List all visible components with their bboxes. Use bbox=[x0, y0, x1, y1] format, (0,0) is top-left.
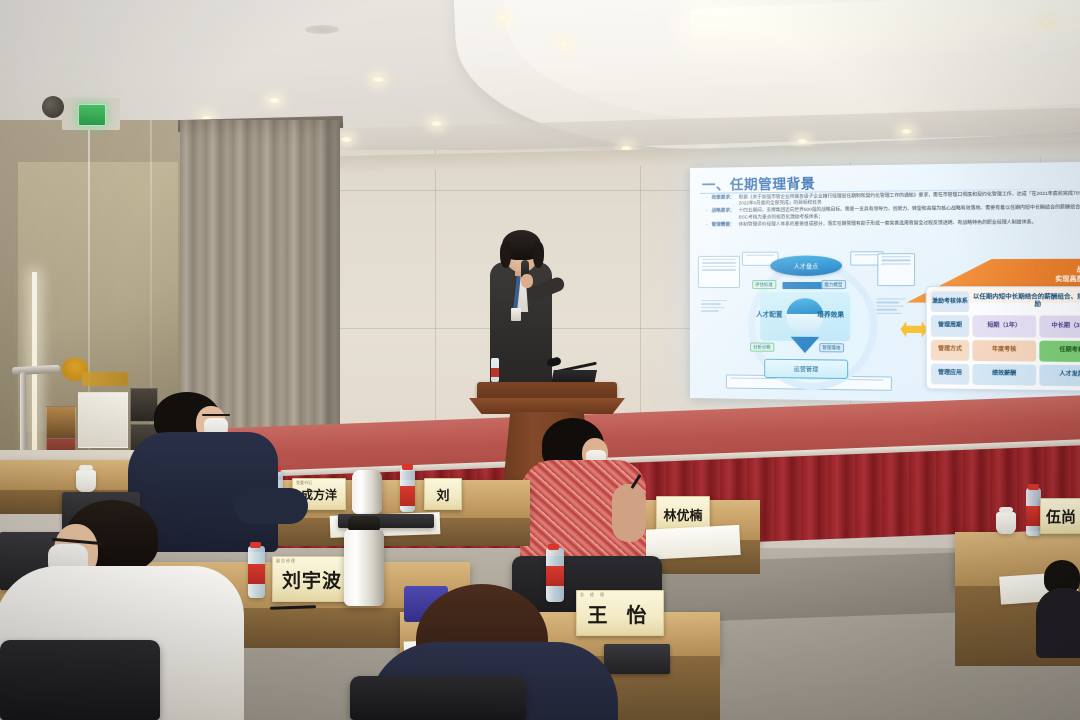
bottle-cap bbox=[1028, 484, 1039, 490]
speaker-hair-right bbox=[533, 242, 544, 268]
table-cell: 年度考核 bbox=[972, 340, 1036, 362]
exit-sign-icon bbox=[78, 104, 106, 126]
ceiling-speaker-icon bbox=[42, 96, 64, 118]
microphone-head-icon bbox=[546, 356, 562, 367]
diagram-tag: 能力模型 bbox=[821, 280, 845, 289]
diagram-left-node: 人才配置 bbox=[756, 308, 782, 318]
slide-title: 一、任期管理背景 bbox=[702, 172, 815, 194]
brand-wordmark bbox=[82, 372, 128, 386]
placard-title: 总经理 bbox=[580, 592, 610, 598]
placard-liu-partial: 刘 bbox=[424, 478, 462, 510]
placard-liuyubo: 副总经理 刘宇波 bbox=[272, 556, 352, 602]
bottle-label bbox=[400, 486, 415, 506]
chair bbox=[0, 640, 160, 720]
diagram-bottom-node: 运营管理 bbox=[764, 359, 848, 379]
banner-line-1: 战略目标 bbox=[907, 265, 1080, 275]
slide-bullets: - 政策要求： 根据《关于加强市管企业所属各级子企业推行经理层任期制和契约化管理… bbox=[706, 190, 1080, 229]
water-bottle bbox=[248, 546, 265, 598]
incentive-table: 激励考核体系 以任期内短中长期结合的薪酬组合、规范化激励 管理周期 短期（1年）… bbox=[926, 286, 1080, 392]
diagram-down-arrow-icon bbox=[791, 337, 820, 353]
placard-name: 伍尚 bbox=[1046, 506, 1076, 527]
info-poster bbox=[78, 392, 128, 448]
table-row-header: 管理周期 bbox=[931, 315, 969, 336]
diagram-top-node: 人才盘点 bbox=[770, 255, 842, 275]
bullet-dash-icon: - bbox=[706, 195, 708, 207]
placard-title: 副总经理 bbox=[276, 558, 296, 564]
podium-apron bbox=[469, 398, 625, 414]
table-cell: 绩效薪酬 bbox=[972, 364, 1036, 386]
speaker-hair-left bbox=[500, 242, 511, 268]
table-cell: 短期（1年） bbox=[972, 315, 1036, 336]
attendee-torso bbox=[1036, 588, 1080, 658]
water-bottle bbox=[546, 548, 564, 602]
downlight bbox=[558, 40, 571, 47]
table-cell: 人才发展 bbox=[1039, 364, 1080, 386]
water-bottle bbox=[1026, 488, 1041, 536]
placard-name: 王 怡 bbox=[588, 599, 653, 628]
diagram-tag: 评估标准 bbox=[752, 280, 776, 289]
bottle-cap bbox=[548, 544, 559, 550]
bullet-label: 政策要求： bbox=[712, 194, 735, 207]
light-strip bbox=[32, 272, 37, 450]
thermos-pot bbox=[344, 528, 384, 606]
laptop bbox=[604, 644, 670, 674]
bottle-cap bbox=[250, 542, 261, 548]
placard-title: 党委书记 bbox=[296, 480, 312, 486]
placard-name: 刘 bbox=[436, 485, 449, 504]
placard-name: 林优楠 bbox=[663, 505, 702, 524]
diagram-right-node: 培养效果 bbox=[817, 308, 844, 318]
tea-cup bbox=[76, 470, 96, 492]
bottle-cap bbox=[402, 464, 413, 470]
diagram-side-box bbox=[698, 298, 732, 332]
chair bbox=[350, 676, 526, 720]
info-poster bbox=[46, 406, 76, 440]
diagram-tag: 分析诊断 bbox=[750, 342, 774, 351]
bottle-label bbox=[248, 564, 265, 584]
downlight bbox=[268, 97, 281, 104]
diagram-tag: 管理落地 bbox=[819, 343, 843, 352]
downlight bbox=[1040, 20, 1053, 27]
banner-line-2: 实现高质量发展 bbox=[907, 275, 1080, 285]
bullet-dash-icon: - bbox=[706, 222, 708, 228]
tea-cup bbox=[996, 512, 1016, 534]
diagram-side-box bbox=[877, 253, 915, 286]
ceiling-vent bbox=[305, 25, 339, 34]
table-cell: 中长期（3年） bbox=[1039, 316, 1080, 338]
bottle-label bbox=[546, 566, 564, 586]
table-header-text: 以任期内短中长期结合的薪酬组合、规范化激励 bbox=[972, 291, 1080, 313]
downlight bbox=[372, 76, 385, 83]
door-handle-vertical-icon[interactable] bbox=[20, 372, 26, 450]
downlight bbox=[430, 120, 443, 127]
thermos-lid bbox=[348, 516, 380, 530]
conference-room-photo: 一、任期管理背景 - 政策要求： 根据《关于加强市管企业所属各级子企业推行经理层… bbox=[0, 0, 1080, 720]
speaker-hand bbox=[521, 274, 533, 288]
projection-screen: 一、任期管理背景 - 政策要求： 根据《关于加强市管企业所属各级子企业推行经理层… bbox=[690, 162, 1080, 405]
downlight bbox=[340, 136, 353, 143]
table-row-header: 管理应用 bbox=[931, 363, 969, 384]
bottle-label bbox=[1026, 506, 1041, 526]
info-poster bbox=[46, 438, 76, 450]
bullet-dash-icon: - bbox=[706, 208, 708, 220]
placard-name: 刘宇波 bbox=[282, 566, 342, 593]
water-bottle bbox=[491, 358, 499, 382]
placard-wangyi: 总经理 王 怡 bbox=[576, 590, 664, 636]
downlight bbox=[497, 15, 510, 22]
diagram-side-box bbox=[698, 256, 740, 288]
placard-wushang: 伍尚 bbox=[1040, 498, 1080, 534]
bullet-label: 管理需要： bbox=[712, 221, 735, 227]
downlight bbox=[796, 138, 809, 145]
bullet-text: 体制管理评价经理人体系的重要组成部分，落实任期管理有助于形成一套完善选用育留全过… bbox=[739, 219, 1037, 228]
downlight bbox=[900, 128, 913, 135]
table-row-header: 激励考核体系 bbox=[931, 291, 969, 312]
cycle-diagram: 人才盘点 人才配置 培养效果 运营管理 评估标准 能力模型 分析诊断 管理落地 bbox=[698, 249, 915, 393]
attendee-arm bbox=[234, 488, 308, 524]
eyeglasses-icon bbox=[202, 414, 230, 416]
thermos-pot bbox=[352, 470, 382, 514]
table-cell: 任期考核 bbox=[1039, 340, 1080, 362]
table-row-header: 管理方式 bbox=[931, 339, 969, 360]
water-bottle bbox=[400, 468, 415, 512]
attendee-arm bbox=[612, 484, 646, 542]
name-badge bbox=[511, 308, 521, 321]
bullet-label: 战略要求： bbox=[712, 208, 735, 221]
